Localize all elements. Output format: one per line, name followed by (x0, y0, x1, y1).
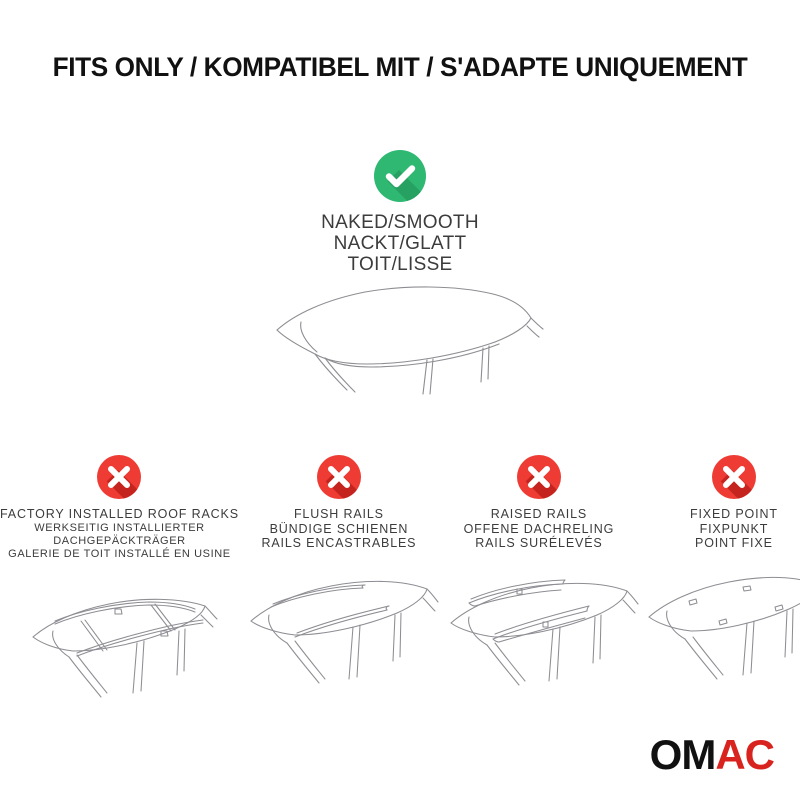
incompatible-flush-rails: FLUSH RAILS BÜNDIGE SCHIENEN RAILS ENCAS… (239, 455, 439, 719)
x-circle-icon (97, 455, 141, 499)
car-roof-factory-rack-icon (19, 569, 219, 714)
fixed-point-label-en: FIXED POINT (639, 507, 800, 522)
factory-rack-label-en: FACTORY INSTALLED ROOF RACKS (0, 507, 239, 522)
check-circle-icon (374, 150, 426, 202)
approved-label-fr: TOIT/LISSE (250, 254, 550, 275)
incompatible-roof-types: FACTORY INSTALLED ROOF RACKS WERKSEITIG … (0, 455, 800, 719)
raised-rails-labels: RAISED RAILS OFFENE DACHRELING RAILS SUR… (439, 507, 639, 551)
car-roof-raised-rails-icon (439, 559, 639, 704)
approved-label-en: NAKED/SMOOTH (250, 212, 550, 233)
incompatible-raised-rails: RAISED RAILS OFFENE DACHRELING RAILS SUR… (439, 455, 639, 719)
logo-text-ac: AC (715, 731, 774, 778)
fixed-point-label-de: FIXPUNKT (639, 522, 800, 537)
factory-rack-label-de1: WERKSEITIG INSTALLIERTER (0, 522, 239, 535)
incompatible-fixed-point: FIXED POINT FIXPUNKT POINT FIXE (639, 455, 800, 719)
car-roof-flush-rails-icon (239, 559, 439, 704)
x-circle-icon (712, 455, 756, 499)
fixed-point-labels: FIXED POINT FIXPUNKT POINT FIXE (639, 507, 800, 551)
raised-rails-label-de: OFFENE DACHRELING (439, 522, 639, 537)
incompatible-factory-rack: FACTORY INSTALLED ROOF RACKS WERKSEITIG … (0, 455, 239, 719)
logo-text-om: OM (650, 731, 716, 778)
factory-rack-label-de2: DACHGEPÄCKTRÄGER (0, 535, 239, 548)
raised-rails-label-fr: RAILS SURÉLEVÉS (439, 536, 639, 551)
car-roof-fixed-point-icon (639, 559, 800, 704)
omac-logo: OMAC (650, 734, 774, 776)
factory-rack-label-fr: GALERIE DE TOIT INSTALLÉ EN USINE (0, 548, 239, 561)
x-circle-icon (317, 455, 361, 499)
flush-rails-label-en: FLUSH RAILS (239, 507, 439, 522)
flush-rails-label-de: BÜNDIGE SCHIENEN (239, 522, 439, 537)
car-roof-naked-smooth-icon (255, 278, 545, 398)
x-circle-icon (517, 455, 561, 499)
approved-label-de: NACKT/GLATT (250, 233, 550, 254)
raised-rails-label-en: RAISED RAILS (439, 507, 639, 522)
flush-rails-label-fr: RAILS ENCASTRABLES (239, 536, 439, 551)
approved-roof-illustration-wrap (250, 278, 550, 398)
factory-rack-labels: FACTORY INSTALLED ROOF RACKS WERKSEITIG … (0, 507, 239, 561)
page-title: FITS ONLY / KOMPATIBEL MIT / S'ADAPTE UN… (12, 52, 788, 83)
approved-roof-type: NAKED/SMOOTH NACKT/GLATT TOIT/LISSE (250, 150, 550, 275)
approved-labels: NAKED/SMOOTH NACKT/GLATT TOIT/LISSE (250, 212, 550, 275)
fixed-point-label-fr: POINT FIXE (639, 536, 800, 551)
flush-rails-labels: FLUSH RAILS BÜNDIGE SCHIENEN RAILS ENCAS… (239, 507, 439, 551)
